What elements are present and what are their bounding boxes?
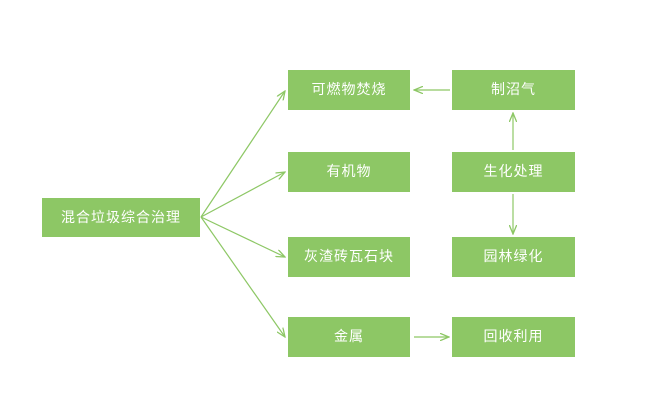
node-label: 生化处理: [484, 165, 544, 179]
node-label: 灰渣砖瓦石块: [304, 250, 394, 264]
node-label: 金属: [334, 330, 364, 344]
edge-root-to-ash-bricks: [201, 217, 285, 257]
node-label: 有机物: [327, 165, 372, 179]
node-biogas-production[interactable]: 制沼气: [452, 70, 575, 110]
node-biochemical-treatment[interactable]: 生化处理: [452, 152, 575, 192]
node-combustible-incineration[interactable]: 可燃物焚烧: [288, 70, 410, 110]
edge-root-to-organic: [201, 172, 285, 217]
node-ash-bricks-tiles-stones[interactable]: 灰渣砖瓦石块: [288, 237, 410, 277]
edge-root-to-metal: [201, 217, 285, 337]
diagram-canvas: 混合垃圾综合治理 可燃物焚烧 有机物 灰渣砖瓦石块 金属 制沼气 生化处理 园林…: [0, 0, 648, 416]
node-mixed-waste-treatment[interactable]: 混合垃圾综合治理: [42, 198, 200, 237]
node-metal[interactable]: 金属: [288, 317, 410, 357]
node-recycling-reuse[interactable]: 回收利用: [452, 317, 575, 357]
node-landscaping[interactable]: 园林绿化: [452, 237, 575, 277]
node-label: 制沼气: [491, 83, 536, 97]
edge-root-to-combustible: [201, 91, 285, 217]
node-label: 园林绿化: [484, 250, 544, 264]
node-organic-matter[interactable]: 有机物: [288, 152, 410, 192]
node-label: 可燃物焚烧: [312, 83, 387, 97]
node-label: 混合垃圾综合治理: [61, 211, 181, 225]
node-label: 回收利用: [484, 330, 544, 344]
